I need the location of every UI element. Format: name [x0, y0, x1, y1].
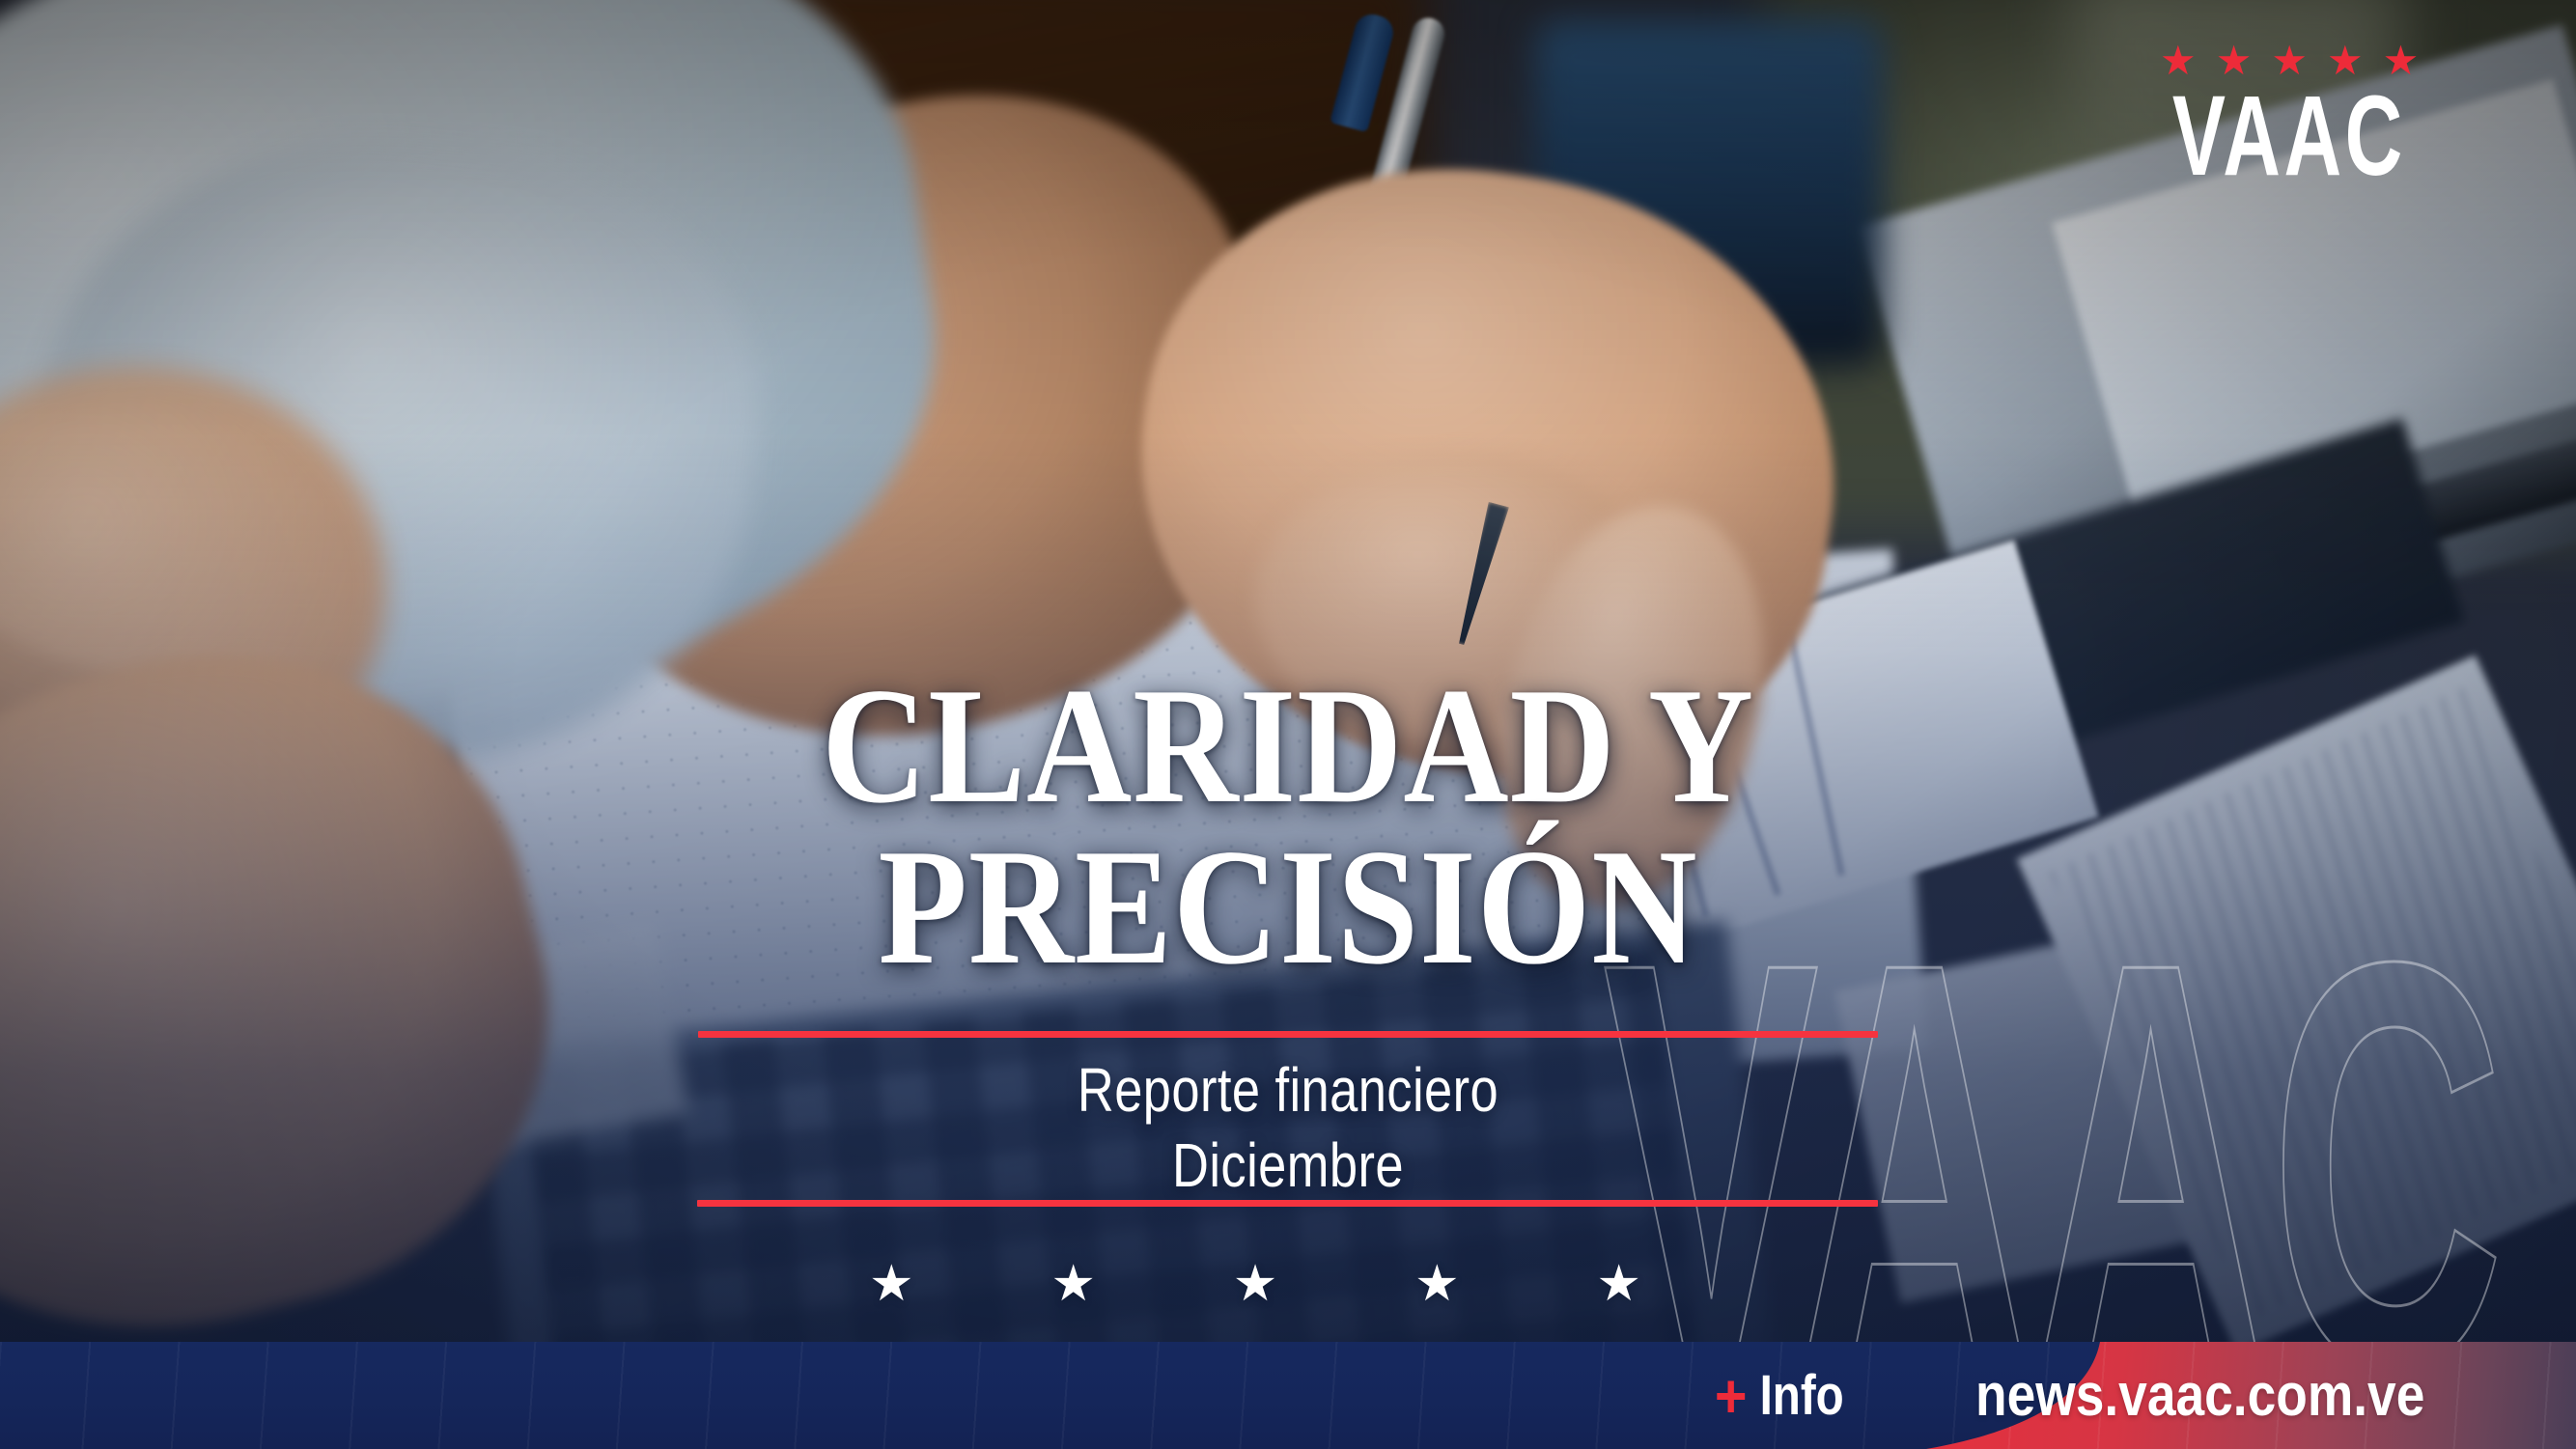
subtitle: Reporte financiero Diciembre — [232, 1052, 2344, 1203]
star-icon: ★ — [1050, 1259, 1096, 1309]
star-icon: ★ — [869, 1259, 914, 1309]
plus-info-label: + Info — [1713, 1365, 1854, 1427]
decorative-star-row: ★ ★ ★ ★ ★ — [869, 1259, 1641, 1309]
page-title-line-1: CLARIDAD Y — [154, 666, 2422, 827]
brand-logo: ★ ★ ★ ★ ★ VAAC — [2122, 41, 2456, 187]
subtitle-line-1: Reporte financiero — [232, 1052, 2344, 1128]
footer-bar: + Info news.vaac.com.ve — [0, 1342, 2576, 1449]
star-icon: ★ — [1233, 1259, 1278, 1309]
plus-icon: + — [1715, 1365, 1748, 1427]
star-icon: ★ — [1414, 1259, 1460, 1309]
star-icon: ★ — [1596, 1259, 1641, 1309]
divider-rule-top — [698, 1031, 1878, 1038]
divider-rule-bottom — [697, 1200, 1878, 1207]
subtitle-line-2: Diciembre — [232, 1128, 2344, 1203]
plus-info-text: Info — [1760, 1368, 1844, 1424]
social-card: VAAC ★ ★ ★ ★ ★ VAAC CLARIDAD Y PRECISIÓN… — [0, 0, 2576, 1449]
site-url[interactable]: news.vaac.com.ve — [1975, 1366, 2424, 1426]
brand-wordmark: VAAC — [2172, 87, 2406, 187]
page-title: CLARIDAD Y PRECISIÓN — [154, 666, 2422, 989]
page-title-line-2: PRECISIÓN — [154, 827, 2422, 989]
